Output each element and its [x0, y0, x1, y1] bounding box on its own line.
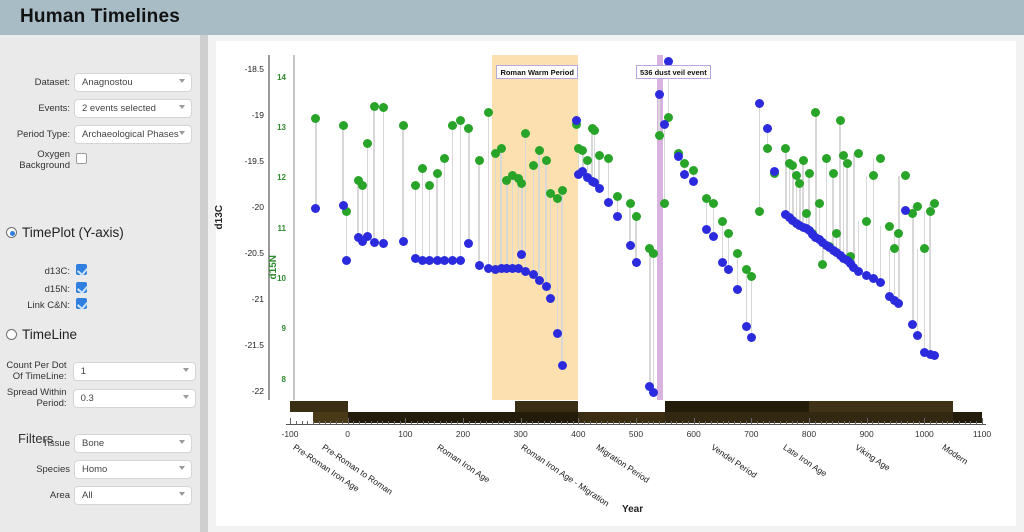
x-axis-tick — [596, 421, 597, 424]
x-axis-tick — [809, 418, 810, 424]
d13c-tick-label: -19 — [228, 110, 264, 120]
link-stem — [429, 186, 431, 260]
x-axis-tick — [302, 421, 303, 424]
link-stem — [383, 108, 385, 244]
link-stem — [608, 158, 610, 202]
period-bar[interactable] — [665, 401, 809, 412]
d15n-data-point[interactable] — [836, 116, 845, 125]
x-axis-tick — [550, 421, 551, 424]
x-axis-tick — [642, 421, 643, 424]
x-axis-tick — [821, 421, 822, 424]
link-stem — [789, 163, 791, 218]
link-stem — [664, 124, 666, 204]
d15n-data-point[interactable] — [595, 151, 604, 160]
x-axis-tick — [867, 418, 868, 424]
x-axis-tick — [394, 421, 395, 424]
x-axis-tick — [469, 421, 470, 424]
chevron-down-icon — [183, 395, 189, 399]
d13c-data-point[interactable] — [613, 212, 622, 221]
x-axis-tick — [382, 421, 383, 424]
d13c-tick-label: -20.5 — [228, 248, 264, 258]
tissue-select-row: Tissue Bone — [0, 434, 196, 453]
dataset-select-value: Anagnostou — [82, 77, 133, 88]
d13c-data-point[interactable] — [572, 116, 581, 125]
x-axis-tick — [838, 421, 839, 424]
d15n-data-point[interactable] — [763, 144, 772, 153]
x-axis-tick — [330, 421, 331, 424]
d15n-data-point[interactable] — [799, 156, 808, 165]
d15n-data-point[interactable] — [788, 161, 797, 170]
d15n-axis-spine — [293, 55, 295, 400]
x-axis-tick — [947, 421, 948, 424]
x-axis-tick — [861, 421, 862, 424]
d15n-data-point[interactable] — [655, 131, 664, 140]
sidebar-divider — [200, 35, 208, 532]
x-axis-tick — [970, 421, 971, 424]
x-axis-tick — [388, 421, 389, 424]
area-select-row: Area All — [0, 486, 196, 505]
events-select[interactable]: 2 events selected — [74, 99, 192, 118]
period-name-label: Viking Age — [853, 442, 892, 473]
x-axis-tick — [561, 421, 562, 424]
x-axis-tick — [653, 421, 654, 424]
link-stem — [843, 156, 845, 259]
x-axis-tick — [965, 421, 966, 424]
d15n-data-point[interactable] — [680, 159, 689, 168]
d15n-data-point[interactable] — [930, 199, 939, 208]
d13c-tick-label: -18.5 — [228, 64, 264, 74]
x-axis-tick — [498, 421, 499, 424]
d15n-axis-title: d15N — [268, 255, 279, 279]
x-axis-tick — [826, 421, 827, 424]
d13c-data-point[interactable] — [649, 388, 658, 397]
link-stem — [629, 204, 631, 246]
link-stem — [858, 221, 860, 271]
x-axis-tick — [313, 421, 314, 424]
timeplot-radio-row[interactable]: TimePlot (Y-axis) — [6, 225, 124, 240]
x-axis-tick — [446, 421, 447, 424]
chevron-down-icon — [183, 368, 189, 372]
x-axis-tick — [307, 421, 308, 424]
period-bar[interactable] — [515, 401, 578, 412]
spread-within-period-select-value: 0.3 — [81, 393, 94, 404]
d15n-data-point[interactable] — [862, 217, 871, 226]
d13c-data-point[interactable] — [464, 239, 473, 248]
app-header: Human Timelines — [0, 0, 1024, 35]
d13c-tick-label: -21 — [228, 294, 264, 304]
x-axis-tick — [515, 421, 516, 424]
d15n-data-point[interactable] — [718, 217, 727, 226]
d15n-tick-label: 12 — [274, 173, 286, 182]
d15n-data-point[interactable] — [805, 169, 814, 178]
x-axis-tick — [526, 421, 527, 424]
d15n-data-point[interactable] — [885, 222, 894, 231]
area-select[interactable]: All — [74, 486, 192, 505]
d13c-tick-label: -20 — [228, 202, 264, 212]
d15n-data-point[interactable] — [425, 181, 434, 190]
x-axis-tick — [544, 421, 545, 424]
d15n-tick-label: 11 — [274, 224, 286, 233]
link-stem — [722, 221, 724, 262]
period-name-label: Modern — [940, 442, 969, 466]
d15n-data-point[interactable] — [802, 209, 811, 218]
d13c-data-point[interactable] — [595, 184, 604, 193]
x-axis-tick — [457, 421, 458, 424]
d15n-data-point[interactable] — [521, 129, 530, 138]
x-axis-tick — [336, 421, 337, 424]
x-axis-tick — [578, 418, 579, 424]
x-axis-line — [286, 424, 986, 425]
x-axis-tick-label: 700 — [735, 429, 767, 439]
link-stem — [591, 128, 593, 181]
x-axis-tick — [746, 421, 747, 424]
link-stem — [367, 143, 369, 236]
d13c-axis-spine — [268, 55, 270, 400]
d13c-data-point[interactable] — [370, 238, 379, 247]
x-axis-tick-label: 1100 — [966, 429, 998, 439]
dataset-select-row: Dataset: Anagnostou — [0, 73, 196, 92]
count-per-dot-select[interactable]: 1 — [73, 362, 196, 381]
link-stem — [846, 163, 848, 260]
x-axis-tick — [723, 421, 724, 424]
period-name-label: Roman Iron Age — [435, 442, 492, 485]
d15n-data-point[interactable] — [399, 121, 408, 130]
x-axis-tick — [711, 421, 712, 424]
checkbox-d15n[interactable] — [76, 282, 87, 293]
d13c-data-point[interactable] — [379, 239, 388, 248]
d15n-data-point[interactable] — [613, 192, 622, 201]
d13c-data-point[interactable] — [475, 261, 484, 270]
d15n-data-point[interactable] — [724, 229, 733, 238]
timeline-radio[interactable] — [6, 329, 17, 340]
x-axis-tick — [936, 421, 937, 424]
x-axis-tick — [636, 418, 637, 424]
link-stem — [521, 183, 523, 254]
d15n-data-point[interactable] — [542, 156, 551, 165]
d15n-data-point[interactable] — [604, 154, 613, 163]
d13c-data-point[interactable] — [456, 256, 465, 265]
x-axis-tick — [509, 421, 510, 424]
period-bar[interactable] — [578, 412, 665, 423]
link-stem — [808, 173, 810, 230]
d13c-data-point[interactable] — [311, 204, 320, 213]
x-axis-tick-label: 400 — [562, 429, 594, 439]
tissue-select[interactable]: Bone — [74, 434, 192, 453]
d15n-data-point[interactable] — [747, 272, 756, 281]
d15n-data-point[interactable] — [901, 171, 910, 180]
x-axis-tick-label: 300 — [505, 429, 537, 439]
x-axis-tick — [803, 421, 804, 424]
d15n-data-point[interactable] — [709, 199, 718, 208]
d13c-data-point[interactable] — [399, 237, 408, 246]
x-axis-tick-label: 600 — [678, 429, 710, 439]
d13c-data-point[interactable] — [604, 198, 613, 207]
link-stem — [759, 104, 761, 211]
x-axis-tick — [521, 418, 522, 424]
dataset-select[interactable]: Anagnostou — [74, 73, 192, 92]
d13c-data-point[interactable] — [733, 285, 742, 294]
x-axis-tick — [348, 418, 349, 424]
d15n-data-point[interactable] — [811, 108, 820, 117]
x-axis-tick — [884, 421, 885, 424]
d15n-data-point[interactable] — [590, 126, 599, 135]
link-stem — [444, 158, 446, 260]
tissue-select-label: Tissue — [8, 438, 70, 449]
chevron-down-icon — [179, 466, 185, 470]
x-axis-tick — [377, 421, 378, 424]
species-select-value: Homo — [82, 464, 107, 475]
checkbox-d13c[interactable] — [76, 264, 87, 275]
d13c-data-point[interactable] — [709, 232, 718, 241]
period-bar[interactable] — [953, 412, 982, 423]
x-axis-tick — [475, 421, 476, 424]
link-stem — [415, 186, 417, 258]
period-type-select[interactable]: Archaeological Phases — [74, 125, 192, 144]
d13c-data-point[interactable] — [913, 331, 922, 340]
timeplot-check-label: d15N: — [8, 284, 70, 295]
link-stem — [422, 168, 424, 260]
x-axis-tick — [405, 418, 406, 424]
x-axis-tick — [365, 421, 366, 424]
timeplot-panel: Roman Warm Period536 dust veil event-18.… — [216, 41, 1016, 526]
x-axis-tick — [976, 421, 977, 424]
link-stem — [853, 153, 855, 267]
x-axis-tick — [440, 421, 441, 424]
x-axis-tick — [734, 421, 735, 424]
d13c-data-point[interactable] — [763, 124, 772, 133]
app-window: Human Timelines Dataset: Anagnostou Even… — [0, 0, 1024, 532]
period-type-select-value: Archaeological Phases — [82, 129, 179, 140]
count-per-dot-select-label: Count Per DotOf TimeLine: — [2, 360, 67, 382]
d15n-tick-label: 8 — [274, 375, 286, 384]
spread-within-period-select-row: Spread WithinPeriod: 0.3 — [2, 387, 196, 409]
d15n-data-point[interactable] — [456, 116, 465, 125]
x-axis-tick — [503, 421, 504, 424]
area-select-label: Area — [8, 490, 70, 501]
x-axis-tick — [480, 421, 481, 424]
d15n-data-point[interactable] — [535, 146, 544, 155]
species-select[interactable]: Homo — [74, 460, 192, 479]
chevron-down-icon — [179, 79, 185, 83]
d13c-data-point[interactable] — [680, 170, 689, 179]
x-axis-tick-label: 500 — [620, 429, 652, 439]
x-axis-tick — [728, 421, 729, 424]
d13c-data-point[interactable] — [632, 258, 641, 267]
d15n-data-point[interactable] — [418, 164, 427, 173]
d15n-data-point[interactable] — [475, 156, 484, 165]
x-axis-tick — [896, 421, 897, 424]
d13c-data-point[interactable] — [339, 201, 348, 210]
d15n-data-point[interactable] — [689, 166, 698, 175]
x-axis-tick — [555, 421, 556, 424]
timeline-radio-row[interactable]: TimeLine — [6, 327, 77, 342]
link-stem — [512, 176, 514, 269]
link-stem — [468, 128, 470, 244]
period-bar[interactable] — [290, 401, 348, 412]
d13c-data-point[interactable] — [689, 177, 698, 186]
link-stem — [478, 161, 480, 266]
link-stem — [889, 249, 891, 297]
x-axis-tick — [619, 421, 620, 424]
d13c-tick-label: -19.5 — [228, 156, 264, 166]
dataset-select-label: Dataset: — [8, 77, 70, 88]
timeplot-check-label: Link C&N: — [8, 300, 70, 311]
link-stem — [436, 173, 438, 260]
period-bar[interactable] — [809, 401, 953, 412]
x-axis-tick — [901, 421, 902, 424]
x-axis-tick-label: -100 — [274, 429, 306, 439]
link-stem — [799, 183, 801, 225]
d15n-data-point[interactable] — [660, 199, 669, 208]
d13c-data-point[interactable] — [747, 333, 756, 342]
x-axis-tick — [624, 421, 625, 424]
d15n-data-point[interactable] — [755, 207, 764, 216]
events-select-label: Events: — [8, 103, 70, 114]
spread-within-period-select[interactable]: 0.3 — [73, 389, 196, 408]
annotation-band — [492, 55, 579, 400]
d15n-data-point[interactable] — [733, 249, 742, 258]
d13c-data-point[interactable] — [342, 256, 351, 265]
x-axis-tick — [590, 421, 591, 424]
count-per-dot-select-row: Count Per DotOf TimeLine: 1 — [2, 360, 196, 382]
x-axis-tick — [699, 421, 700, 424]
d15n-data-point[interactable] — [854, 149, 863, 158]
x-axis-tick — [630, 421, 631, 424]
d13c-data-point[interactable] — [674, 152, 683, 161]
d15n-data-point[interactable] — [876, 154, 885, 163]
x-axis-tick — [913, 421, 914, 424]
d15n-data-point[interactable] — [894, 229, 903, 238]
d13c-data-point[interactable] — [755, 99, 764, 108]
x-axis-tick — [353, 421, 354, 424]
x-axis-tick — [659, 421, 660, 424]
spread-within-period-select-label: Spread WithinPeriod: — [2, 387, 67, 409]
d15n-data-point[interactable] — [829, 169, 838, 178]
link-stem — [929, 204, 931, 354]
d15n-data-point[interactable] — [379, 103, 388, 112]
d13c-axis-title: d13C — [214, 205, 225, 229]
link-stem — [500, 148, 502, 268]
link-stem — [538, 151, 540, 281]
link-stem — [460, 120, 462, 260]
link-stem — [924, 211, 926, 352]
x-axis-tick — [694, 418, 695, 424]
x-axis-tick — [688, 421, 689, 424]
d13c-data-point[interactable] — [930, 351, 939, 360]
timeplot-radio[interactable] — [6, 227, 17, 238]
checkbox-linkcn[interactable] — [76, 298, 87, 309]
d15n-data-point[interactable] — [578, 146, 587, 155]
x-axis-tick — [319, 421, 320, 424]
d15n-data-point[interactable] — [497, 144, 506, 153]
d15n-data-point[interactable] — [363, 139, 372, 148]
x-axis-tick — [359, 421, 360, 424]
d13c-data-point[interactable] — [542, 282, 551, 291]
d15n-data-point[interactable] — [815, 199, 824, 208]
d15n-data-point[interactable] — [822, 154, 831, 163]
x-axis-tick — [613, 421, 614, 424]
d13c-data-point[interactable] — [660, 120, 669, 129]
d15n-data-point[interactable] — [843, 159, 852, 168]
link-stem — [315, 119, 317, 209]
link-stem — [880, 226, 882, 282]
link-stem — [912, 206, 914, 324]
timeplot-check-label: d13C: — [8, 266, 70, 277]
d15n-tick-label: 9 — [274, 324, 286, 333]
d15n-data-point[interactable] — [440, 154, 449, 163]
x-axis-tick — [532, 421, 533, 424]
d13c-data-point[interactable] — [558, 361, 567, 370]
chevron-down-icon — [179, 131, 185, 135]
d15n-data-point[interactable] — [818, 260, 827, 269]
oxygen-background-row: OxygenBackground — [8, 149, 196, 171]
x-axis-tick — [296, 421, 297, 424]
d13c-data-point[interactable] — [724, 265, 733, 274]
link-stem — [545, 161, 547, 287]
d13c-data-point[interactable] — [894, 299, 903, 308]
annotation-label: 536 dust veil event — [636, 65, 711, 79]
x-axis-tick — [740, 421, 741, 424]
x-axis-tick — [855, 421, 856, 424]
period-type-select-label: Period Type: — [8, 129, 70, 140]
annotation-label: Roman Warm Period — [496, 65, 577, 79]
d15n-data-point[interactable] — [913, 202, 922, 211]
d13c-data-point[interactable] — [626, 241, 635, 250]
x-axis-tick — [342, 421, 343, 424]
d15n-data-point[interactable] — [370, 102, 379, 111]
x-axis-tick — [942, 421, 943, 424]
d15n-data-point[interactable] — [433, 169, 442, 178]
link-stem — [557, 199, 559, 334]
d15n-data-point[interactable] — [339, 121, 348, 130]
x-axis-tick-label: 200 — [447, 429, 479, 439]
link-stem — [826, 158, 828, 245]
x-axis-tick — [959, 421, 960, 424]
x-axis-tick — [411, 421, 412, 424]
x-axis-tick — [780, 421, 781, 424]
events-select-row: Events: 2 events selected — [0, 99, 196, 118]
d15n-data-point[interactable] — [920, 244, 929, 253]
d15n-data-point[interactable] — [411, 181, 420, 190]
x-axis-tick — [290, 418, 291, 424]
x-axis-tick — [717, 421, 718, 424]
x-axis-tick — [930, 421, 931, 424]
d15n-data-point[interactable] — [869, 171, 878, 180]
page-title: Human Timelines — [20, 6, 180, 28]
x-axis-tick — [486, 421, 487, 424]
d13c-data-point[interactable] — [655, 90, 664, 99]
x-axis-tick — [705, 421, 706, 424]
x-axis-tick-label: 900 — [851, 429, 883, 439]
d13c-data-point[interactable] — [876, 278, 885, 287]
x-axis-tick — [371, 421, 372, 424]
x-axis-tick — [757, 421, 758, 424]
d15n-data-point[interactable] — [626, 199, 635, 208]
d15n-data-point[interactable] — [311, 114, 320, 123]
x-axis-tick — [763, 421, 764, 424]
timeplot-radio-label: TimePlot (Y-axis) — [22, 225, 124, 240]
x-axis-tick — [451, 421, 452, 424]
timeline-radio-label: TimeLine — [22, 327, 77, 342]
d15n-data-point[interactable] — [781, 144, 790, 153]
x-axis-tick — [607, 421, 608, 424]
d15n-data-point[interactable] — [464, 124, 473, 133]
x-axis-tick-label: 1000 — [908, 429, 940, 439]
x-axis-tick — [428, 421, 429, 424]
d15n-data-point[interactable] — [632, 212, 641, 221]
oxygen-background-label: OxygenBackground — [8, 149, 70, 171]
oxygen-background-checkbox[interactable] — [76, 153, 87, 164]
